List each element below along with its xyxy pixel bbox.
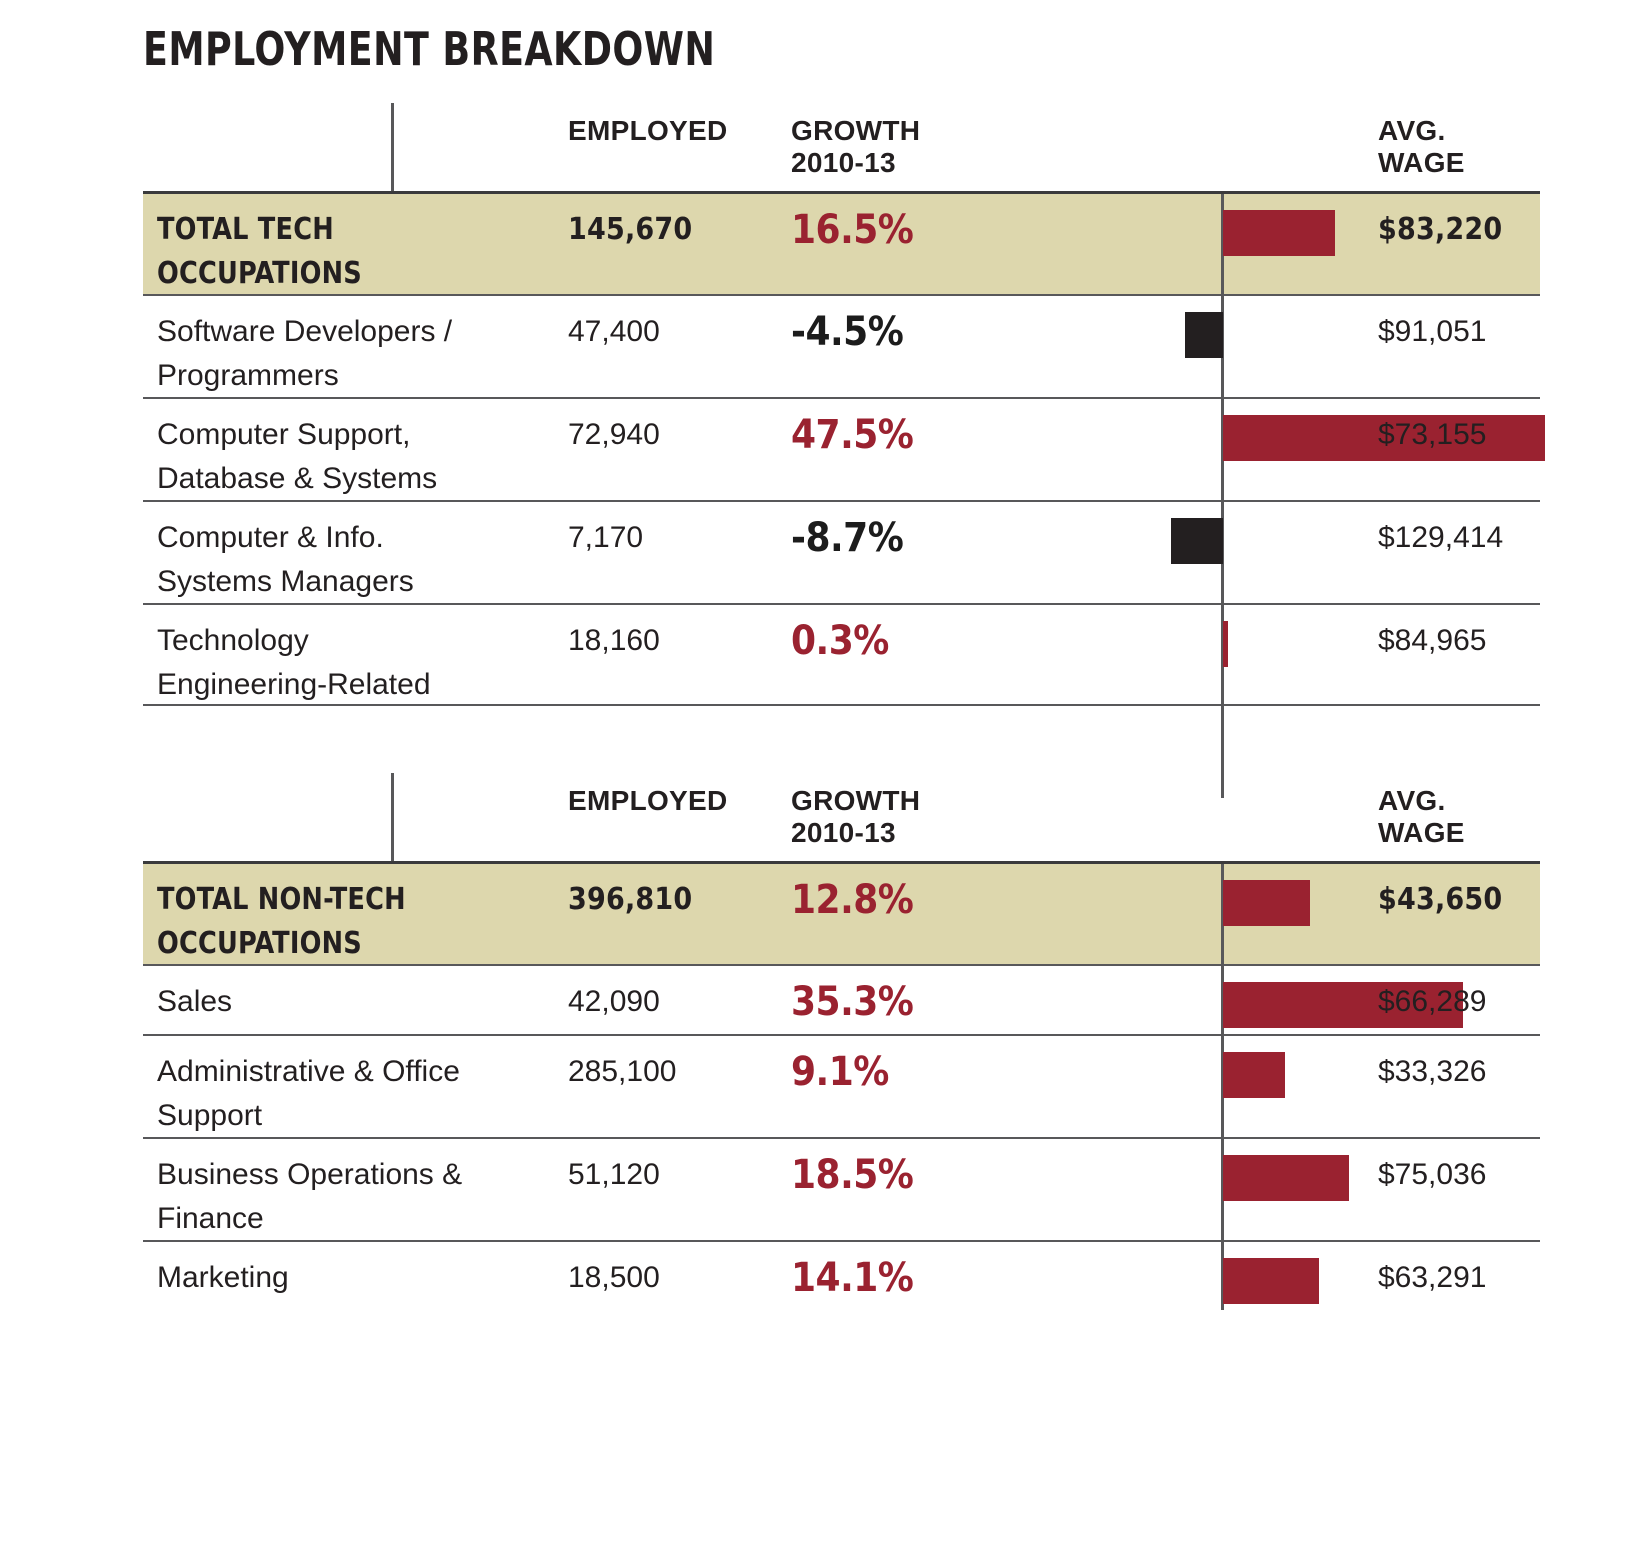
- employed-value: 285,100: [568, 1036, 753, 1094]
- occupation-line1: TOTAL TECH: [157, 208, 547, 252]
- employed-value: 18,160: [568, 605, 753, 663]
- table-header-row: EMPLOYED GROWTH 2010-13 AVG. WAGE: [143, 103, 1540, 191]
- growth-value: 18.5%: [791, 1139, 971, 1197]
- growth-bar-cell: [973, 1036, 1373, 1137]
- avg-wage-value: $33,326: [1378, 1036, 1548, 1094]
- growth-value: 47.5%: [791, 399, 971, 457]
- header-growth-line1: GROWTH: [791, 785, 971, 817]
- occupation-line1: Computer & Info.: [157, 516, 567, 560]
- occupation-line2: Engineering-Related: [157, 663, 567, 707]
- employed-value: 145,670: [568, 194, 753, 252]
- occupation-line1: Marketing: [157, 1256, 567, 1300]
- growth-value: 0.3%: [791, 605, 971, 663]
- occupation-line1: Business Operations &: [157, 1153, 567, 1197]
- growth-bar: [1223, 880, 1310, 926]
- table-row: TOTAL NON-TECH OCCUPATIONS 396,810 12.8%…: [143, 861, 1540, 964]
- occupation-label: TOTAL NON-TECH OCCUPATIONS: [157, 864, 547, 966]
- occupation-line2: Finance: [157, 1197, 567, 1241]
- header-wage-line1: AVG.: [1378, 115, 1548, 147]
- growth-bar-cell: [973, 194, 1373, 294]
- avg-wage-value: $129,414: [1378, 502, 1548, 560]
- growth-bar: [1185, 312, 1223, 358]
- table-row: Technology Engineering-Related 18,160 0.…: [143, 603, 1540, 706]
- growth-bar-cell: [973, 399, 1373, 500]
- avg-wage-value: $91,051: [1378, 296, 1548, 354]
- table-header-row: EMPLOYED GROWTH 2010-13 AVG. WAGE: [143, 773, 1540, 861]
- bar-zero-line: [391, 103, 394, 191]
- header-wage-line2: WAGE: [1378, 817, 1548, 849]
- header-wage-line2: WAGE: [1378, 147, 1548, 179]
- occupation-line2: OCCUPATIONS: [157, 922, 547, 966]
- bar-zero-line: [391, 773, 394, 861]
- header-growth-line2: 2010-13: [791, 147, 971, 179]
- table-row: Computer & Info. Systems Managers 7,170 …: [143, 500, 1540, 603]
- table-row: Business Operations & Finance 51,120 18.…: [143, 1137, 1540, 1240]
- table-row: Marketing 18,500 14.1% $63,291: [143, 1240, 1540, 1310]
- avg-wage-value: $84,965: [1378, 605, 1548, 663]
- occupation-line1: Software Developers /: [157, 310, 567, 354]
- table-row: TOTAL TECH OCCUPATIONS 145,670 16.5% $83…: [143, 191, 1540, 294]
- growth-value: -8.7%: [791, 502, 971, 560]
- header-growth: GROWTH 2010-13: [791, 103, 971, 179]
- occupation-line1: Computer Support,: [157, 413, 567, 457]
- avg-wage-value: $73,155: [1378, 399, 1548, 457]
- growth-bar: [1223, 1155, 1349, 1201]
- occupation-label: Computer Support, Database & Systems: [157, 399, 567, 501]
- occupation-label: Computer & Info. Systems Managers: [157, 502, 567, 604]
- table-row: Computer Support, Database & Systems 72,…: [143, 397, 1540, 500]
- occupation-label: Business Operations & Finance: [157, 1139, 567, 1241]
- growth-bar: [1171, 518, 1223, 564]
- growth-value: -4.5%: [791, 296, 971, 354]
- header-employed: EMPLOYED: [568, 773, 753, 817]
- avg-wage-value: $63,291: [1378, 1242, 1548, 1300]
- occupation-line2: Systems Managers: [157, 560, 567, 604]
- page-title: EMPLOYMENT BREAKDOWN: [143, 22, 715, 76]
- header-avg-wage: AVG. WAGE: [1378, 103, 1548, 179]
- growth-bar-cell: [973, 1139, 1373, 1240]
- header-avg-wage: AVG. WAGE: [1378, 773, 1548, 849]
- avg-wage-value: $75,036: [1378, 1139, 1548, 1197]
- header-wage-line1: AVG.: [1378, 785, 1548, 817]
- occupation-label: TOTAL TECH OCCUPATIONS: [157, 194, 547, 296]
- growth-value: 9.1%: [791, 1036, 971, 1094]
- growth-bar-cell: [973, 966, 1373, 1034]
- employed-value: 72,940: [568, 399, 753, 457]
- header-growth-line2: 2010-13: [791, 817, 971, 849]
- growth-value: 12.8%: [791, 864, 971, 922]
- growth-bar: [1223, 210, 1335, 256]
- growth-value: 14.1%: [791, 1242, 971, 1300]
- employed-value: 7,170: [568, 502, 753, 560]
- nontech-occupations-table: EMPLOYED GROWTH 2010-13 AVG. WAGE TOTAL …: [143, 773, 1540, 1310]
- growth-bar-cell: [973, 502, 1373, 603]
- occupation-label: Administrative & Office Support: [157, 1036, 567, 1138]
- employed-value: 18,500: [568, 1242, 753, 1300]
- growth-bar-cell: [973, 296, 1373, 397]
- avg-wage-value: $66,289: [1378, 966, 1548, 1024]
- table-row: Administrative & Office Support 285,100 …: [143, 1034, 1540, 1137]
- table-row: Software Developers / Programmers 47,400…: [143, 294, 1540, 397]
- growth-bar-cell: [973, 605, 1373, 704]
- occupation-line2: Database & Systems: [157, 457, 567, 501]
- growth-bar-cell: [973, 1242, 1373, 1310]
- header-growth: GROWTH 2010-13: [791, 773, 971, 849]
- occupation-label: Technology Engineering-Related: [157, 605, 567, 707]
- growth-value: 35.3%: [791, 966, 971, 1024]
- infographic-page: EMPLOYMENT BREAKDOWN EMPLOYED GROWTH 201…: [0, 0, 1652, 1544]
- occupation-label: Sales: [157, 966, 567, 1024]
- employed-value: 47,400: [568, 296, 753, 354]
- occupation-line1: TOTAL NON-TECH: [157, 878, 547, 922]
- occupation-line1: Technology: [157, 619, 567, 663]
- occupation-line1: Administrative & Office: [157, 1050, 567, 1094]
- growth-bar-cell: [973, 864, 1373, 964]
- tech-occupations-table: EMPLOYED GROWTH 2010-13 AVG. WAGE TOTAL …: [143, 103, 1540, 798]
- employed-value: 51,120: [568, 1139, 753, 1197]
- growth-bar: [1223, 621, 1228, 667]
- avg-wage-value: $83,220: [1378, 194, 1548, 252]
- employed-value: 396,810: [568, 864, 753, 922]
- header-employed: EMPLOYED: [568, 103, 753, 147]
- growth-value: 16.5%: [791, 194, 971, 252]
- occupation-line2: Support: [157, 1094, 567, 1138]
- table-row: Sales 42,090 35.3% $66,289: [143, 964, 1540, 1034]
- occupation-label: Software Developers / Programmers: [157, 296, 567, 398]
- employed-value: 42,090: [568, 966, 753, 1024]
- avg-wage-value: $43,650: [1378, 864, 1548, 922]
- header-growth-line1: GROWTH: [791, 115, 971, 147]
- occupation-line1: Sales: [157, 980, 567, 1024]
- growth-bar: [1223, 1258, 1319, 1304]
- occupation-line2: Programmers: [157, 354, 567, 398]
- occupation-label: Marketing: [157, 1242, 567, 1300]
- growth-bar: [1223, 1052, 1285, 1098]
- occupation-line2: OCCUPATIONS: [157, 252, 547, 296]
